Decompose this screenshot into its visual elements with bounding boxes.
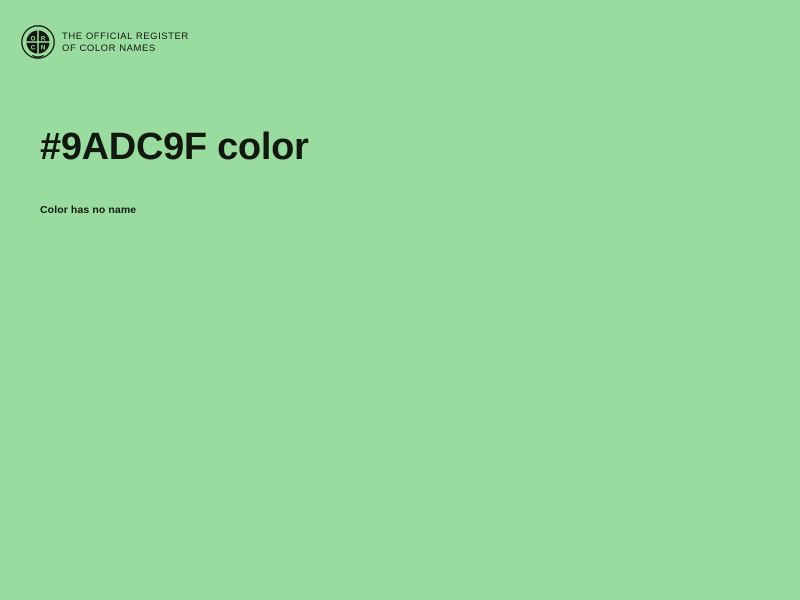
brand-title: THE OFFICIAL REGISTER OF COLOR NAMES [62, 30, 189, 54]
svg-text:C: C [31, 44, 36, 51]
brand-header[interactable]: O R C N THE OFFICIAL REGISTER OF COLOR N… [20, 24, 189, 60]
svg-text:R: R [41, 35, 46, 42]
svg-text:O: O [31, 35, 36, 42]
color-page: O R C N THE OFFICIAL REGISTER OF COLOR N… [0, 0, 800, 600]
official-register-emblem-icon: O R C N [20, 24, 56, 60]
main-content: #9ADC9F color Color has no name [40, 124, 760, 217]
page-title: #9ADC9F color [40, 124, 760, 170]
svg-text:N: N [41, 44, 46, 51]
brand-title-line-2: OF COLOR NAMES [62, 43, 189, 55]
color-name-status: Color has no name [40, 170, 760, 217]
brand-title-line-1: THE OFFICIAL REGISTER [62, 31, 189, 43]
